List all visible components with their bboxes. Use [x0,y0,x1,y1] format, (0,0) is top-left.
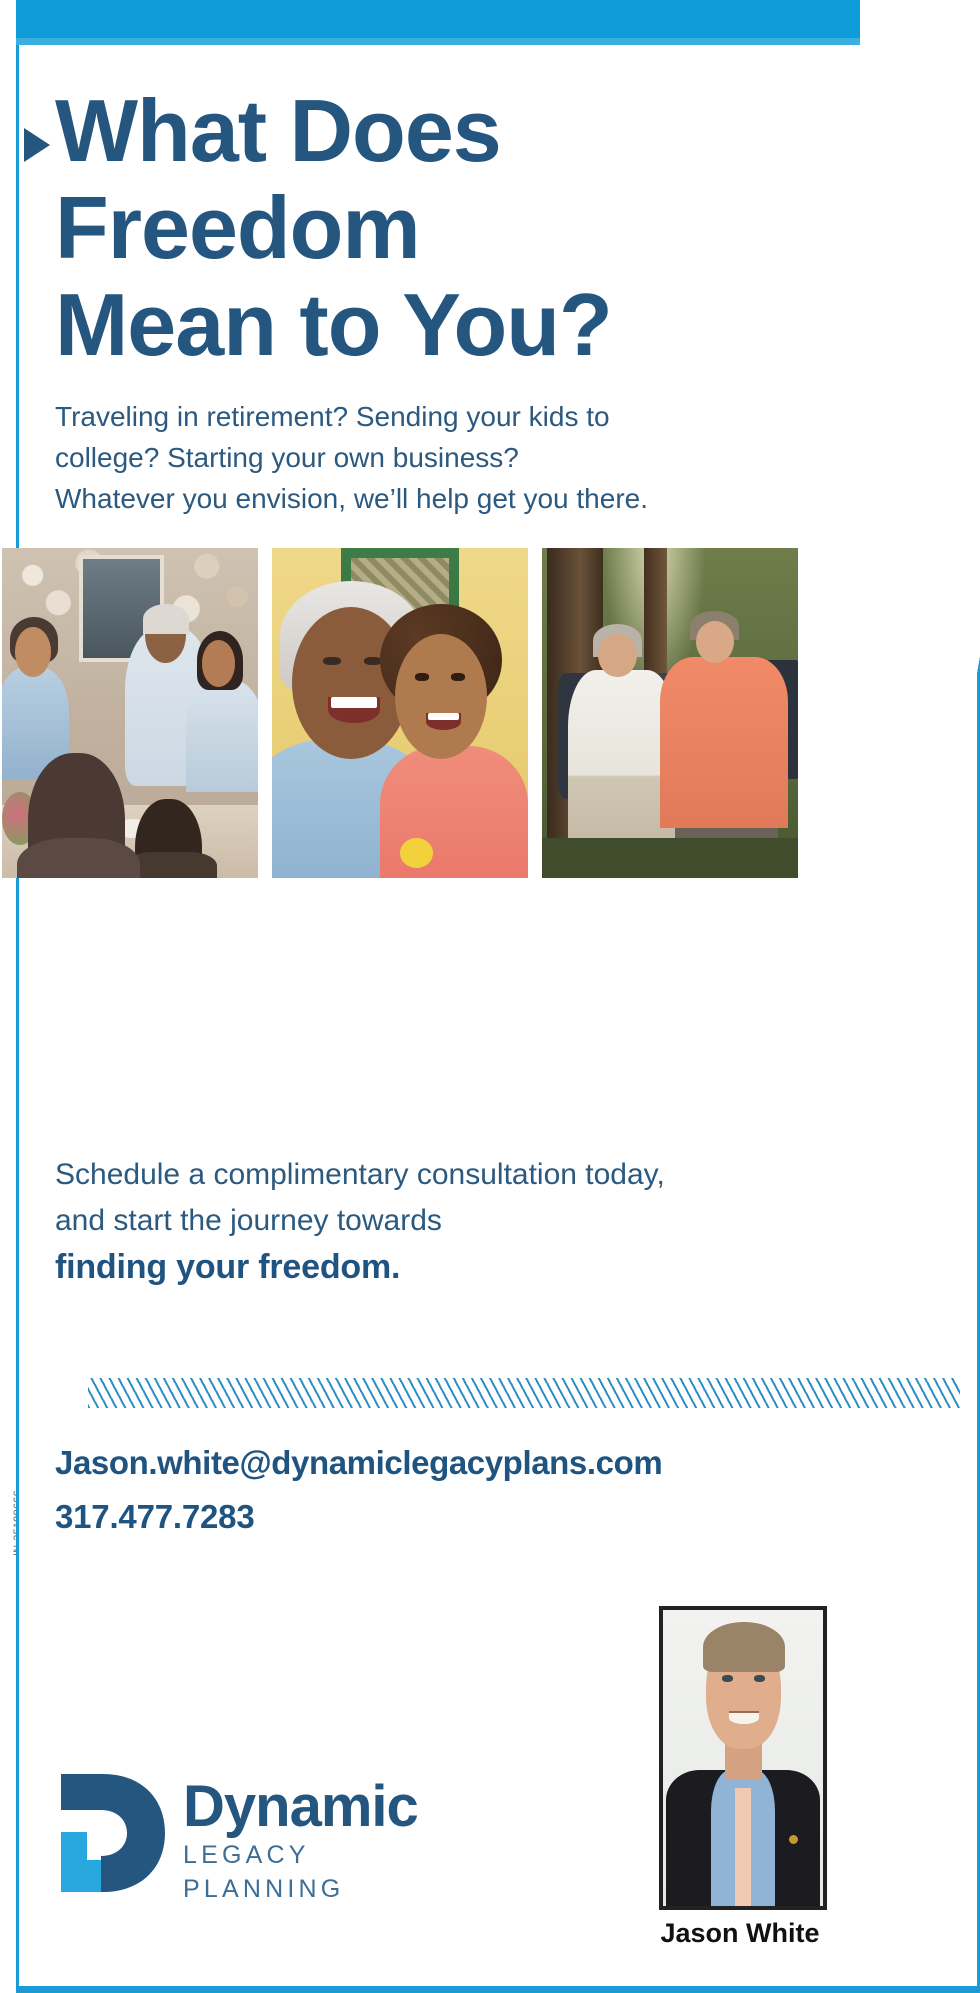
photo-hikers-forest [542,548,798,878]
logo-tagline: LEGACY PLANNING [183,1838,475,1906]
intro-line-2: college? Starting your own business? [55,437,735,478]
contact-block: Jason.white@dynamiclegacyplans.com 317.4… [55,1440,815,1540]
id-strip: IN-35198666 [0,0,16,1993]
cta-line-3-emphasis: finding your freedom. [55,1244,755,1290]
advisor-portrait-photo [659,1606,827,1910]
page-title: What Does Freedom Mean to You? [55,82,755,373]
triangle-arrow-icon [24,128,50,162]
advisor-name-caption: Jason White [560,1918,920,1949]
logo-company-name: Dynamic [183,1776,475,1838]
logo-text-group: Dynamic LEGACY PLANNING [183,1776,475,1906]
intro-paragraph: Traveling in retirement? Sending your ki… [55,396,735,519]
headline-line-1: What Does [55,82,755,179]
company-logo: Dynamic LEGACY PLANNING [55,1770,475,1900]
top-blue-bar-secondary [16,38,980,45]
hatch-divider-top [88,1378,960,1408]
dynamic-d-mark-icon [55,1770,165,1895]
top-blue-bar [16,0,980,38]
bottom-blue-bar [16,1986,980,1993]
headline-line-2: Freedom [55,179,755,276]
intro-line-1: Traveling in retirement? Sending your ki… [55,396,735,437]
headline-line-3: Mean to You? [55,276,755,373]
advertisement-page: IN-35198666 What Does Freedom Mean to Yo… [0,0,980,1993]
photo-strip [2,548,978,878]
intro-line-3: Whatever you envision, we’ll help get yo… [55,478,735,519]
cta-line-2: and start the journey towards [55,1198,755,1244]
contact-email[interactable]: Jason.white@dynamiclegacyplans.com [55,1440,815,1486]
photo-family-dinner [2,548,258,878]
photo-grandmother-child [272,548,528,878]
cta-line-1: Schedule a complimentary consultation to… [55,1152,755,1198]
cta-paragraph: Schedule a complimentary consultation to… [55,1152,755,1290]
contact-phone[interactable]: 317.477.7283 [55,1494,815,1540]
